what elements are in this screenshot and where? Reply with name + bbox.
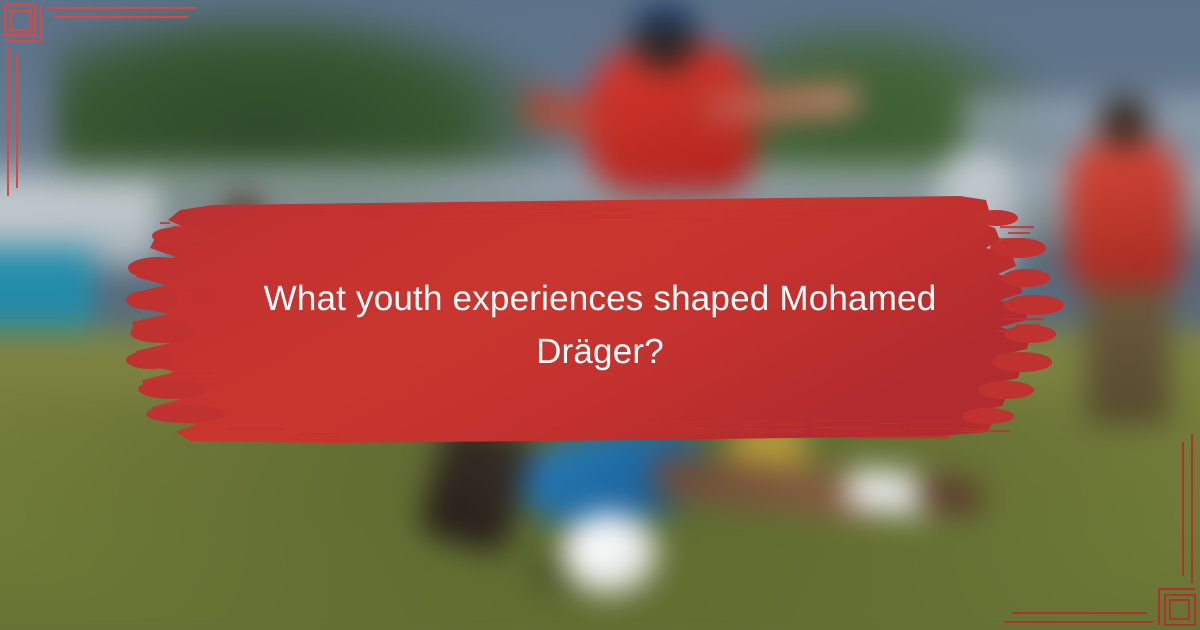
question-title: What youth experiences shaped Mohamed Dr… [206,272,994,378]
player-right-legs [1086,274,1170,424]
figure-left-red-head [224,193,260,230]
spectator-far-right [937,152,1015,288]
corner-ornament-bottom-right [1000,430,1200,630]
soccer-ball [561,512,658,594]
share-card: What youth experiences shaped Mohamed Dr… [0,0,1200,630]
player-right-head [1099,97,1151,148]
player-right-body [1067,138,1184,288]
player-red-cap [636,3,693,27]
corner-ornament-top-left [0,0,200,200]
cyan-panel [0,247,95,335]
